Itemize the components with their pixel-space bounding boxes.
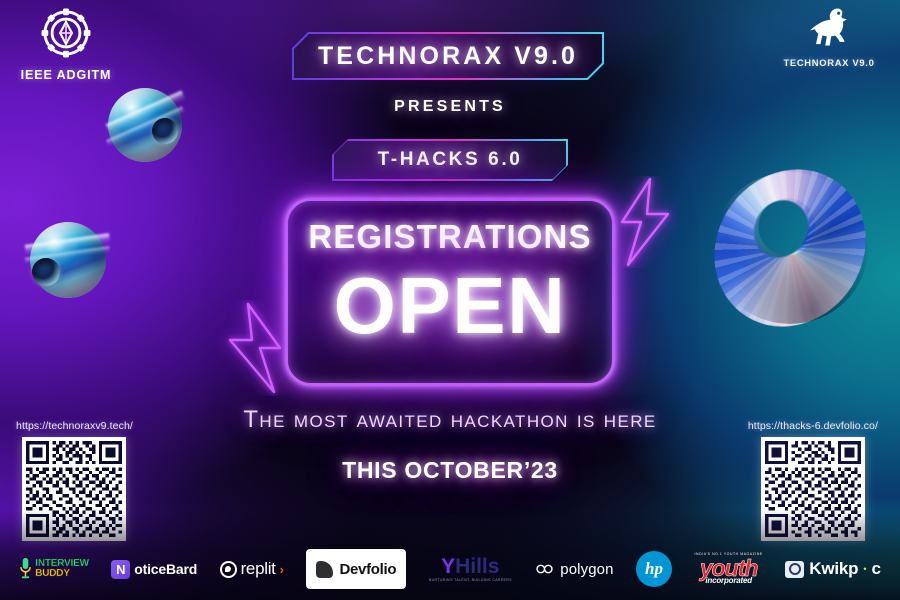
neon-lightning-bolt-icon-right bbox=[612, 176, 678, 268]
headline-open: OPEN bbox=[285, 266, 615, 346]
poster-canvas: IEEE ADGITM TECHNORAX V9.0 TECHNORAX V9.… bbox=[0, 0, 900, 600]
replit-caret-icon: › bbox=[280, 562, 284, 577]
technorax-corner-logo: TECHNORAX V9.0 bbox=[768, 4, 890, 68]
kwikpic-dot-icon: • bbox=[863, 564, 866, 574]
ieee-logo-label: IEEE ADGITM bbox=[12, 68, 120, 82]
yhills-wordmark: Y H i lls bbox=[441, 556, 499, 577]
replit-mark-icon bbox=[220, 561, 237, 578]
polygon-wordmark: polygon bbox=[560, 561, 613, 578]
decor-torus-right bbox=[712, 172, 868, 324]
technorax-corner-label: TECHNORAX V9.0 bbox=[768, 57, 890, 68]
sphere-dimple bbox=[152, 118, 178, 144]
yhills-letter-i: i bbox=[470, 556, 476, 577]
sponsor-logo-devfolio[interactable]: Devfolio bbox=[306, 549, 406, 589]
sponsor-logo-interviewbuddy[interactable]: INTERVIEW BUDDY bbox=[19, 549, 89, 589]
devfolio-wordmark: Devfolio bbox=[339, 561, 396, 578]
sponsor-logo-replit[interactable]: replit › bbox=[220, 549, 284, 589]
banner-technorax-text: TECHNORAX V9.0 bbox=[318, 42, 578, 71]
qr-url-label: https://technoraxv9.tech/ bbox=[16, 420, 133, 432]
sponsor-logo-polygon[interactable]: polygon bbox=[534, 549, 613, 589]
t-rex-dinosaur-icon bbox=[805, 4, 853, 50]
yhills-letters-lls: lls bbox=[476, 556, 499, 577]
kwikpic-wordmark-a: Kwikp bbox=[809, 559, 858, 579]
banner-thacks-text: T-HACKS 6.0 bbox=[378, 149, 523, 171]
kwikpic-wordmark-b: c bbox=[871, 559, 880, 579]
sponsor-logo-noticebard[interactable]: N oticeBard bbox=[111, 549, 197, 589]
noticebard-badge-icon: N bbox=[111, 560, 130, 579]
sponsor-logo-yhills[interactable]: Y H i lls NURTURING TALENT, BUILDING CAR… bbox=[429, 549, 512, 589]
presents-label: PRESENTS bbox=[0, 98, 900, 116]
replit-wordmark: replit bbox=[241, 559, 276, 579]
torus-shading bbox=[712, 172, 868, 324]
decor-sphere-lower-left bbox=[30, 222, 106, 298]
polygon-mark-icon bbox=[534, 562, 555, 576]
sponsor-logo-kwikpic[interactable]: Kwikp • c bbox=[785, 549, 880, 589]
noticebard-wordmark: oticeBard bbox=[134, 561, 197, 577]
sponsor-logo-youth-incorporated[interactable]: INDIA’S NO.1 YOUTH MAGAZINE youth incorp… bbox=[695, 549, 763, 589]
neon-lightning-bolt-icon-left bbox=[214, 300, 294, 396]
devfolio-mark-icon bbox=[316, 561, 333, 578]
ieee-emblem-icon bbox=[39, 6, 93, 60]
sponsor-bar: INTERVIEW BUDDY N oticeBard replit › Dev… bbox=[0, 544, 900, 594]
headline-registrations: REGISTRATIONS bbox=[285, 218, 615, 256]
banner-technorax: TECHNORAX V9.0 bbox=[292, 32, 604, 80]
qr-url-label: https://thacks-6.devfolio.co/ bbox=[748, 420, 878, 432]
ieee-adgitm-logo: IEEE ADGITM bbox=[12, 6, 120, 82]
sphere-dimple bbox=[32, 258, 60, 286]
microphone-icon bbox=[19, 557, 32, 581]
kwikpic-camera-icon bbox=[785, 561, 804, 578]
interviewbuddy-line2: BUDDY bbox=[35, 569, 89, 579]
yhills-letter-h: H bbox=[455, 556, 470, 577]
yhills-tagline: NURTURING TALENT, BUILDING CAREERS bbox=[429, 579, 512, 583]
yhills-letter-y: Y bbox=[441, 556, 455, 577]
banner-thacks: T-HACKS 6.0 bbox=[332, 139, 568, 181]
youth-subwordmark: incorporated bbox=[705, 577, 752, 585]
interviewbuddy-wordmark: INTERVIEW BUDDY bbox=[35, 559, 89, 579]
sponsor-logo-hp[interactable]: hp bbox=[636, 551, 672, 587]
